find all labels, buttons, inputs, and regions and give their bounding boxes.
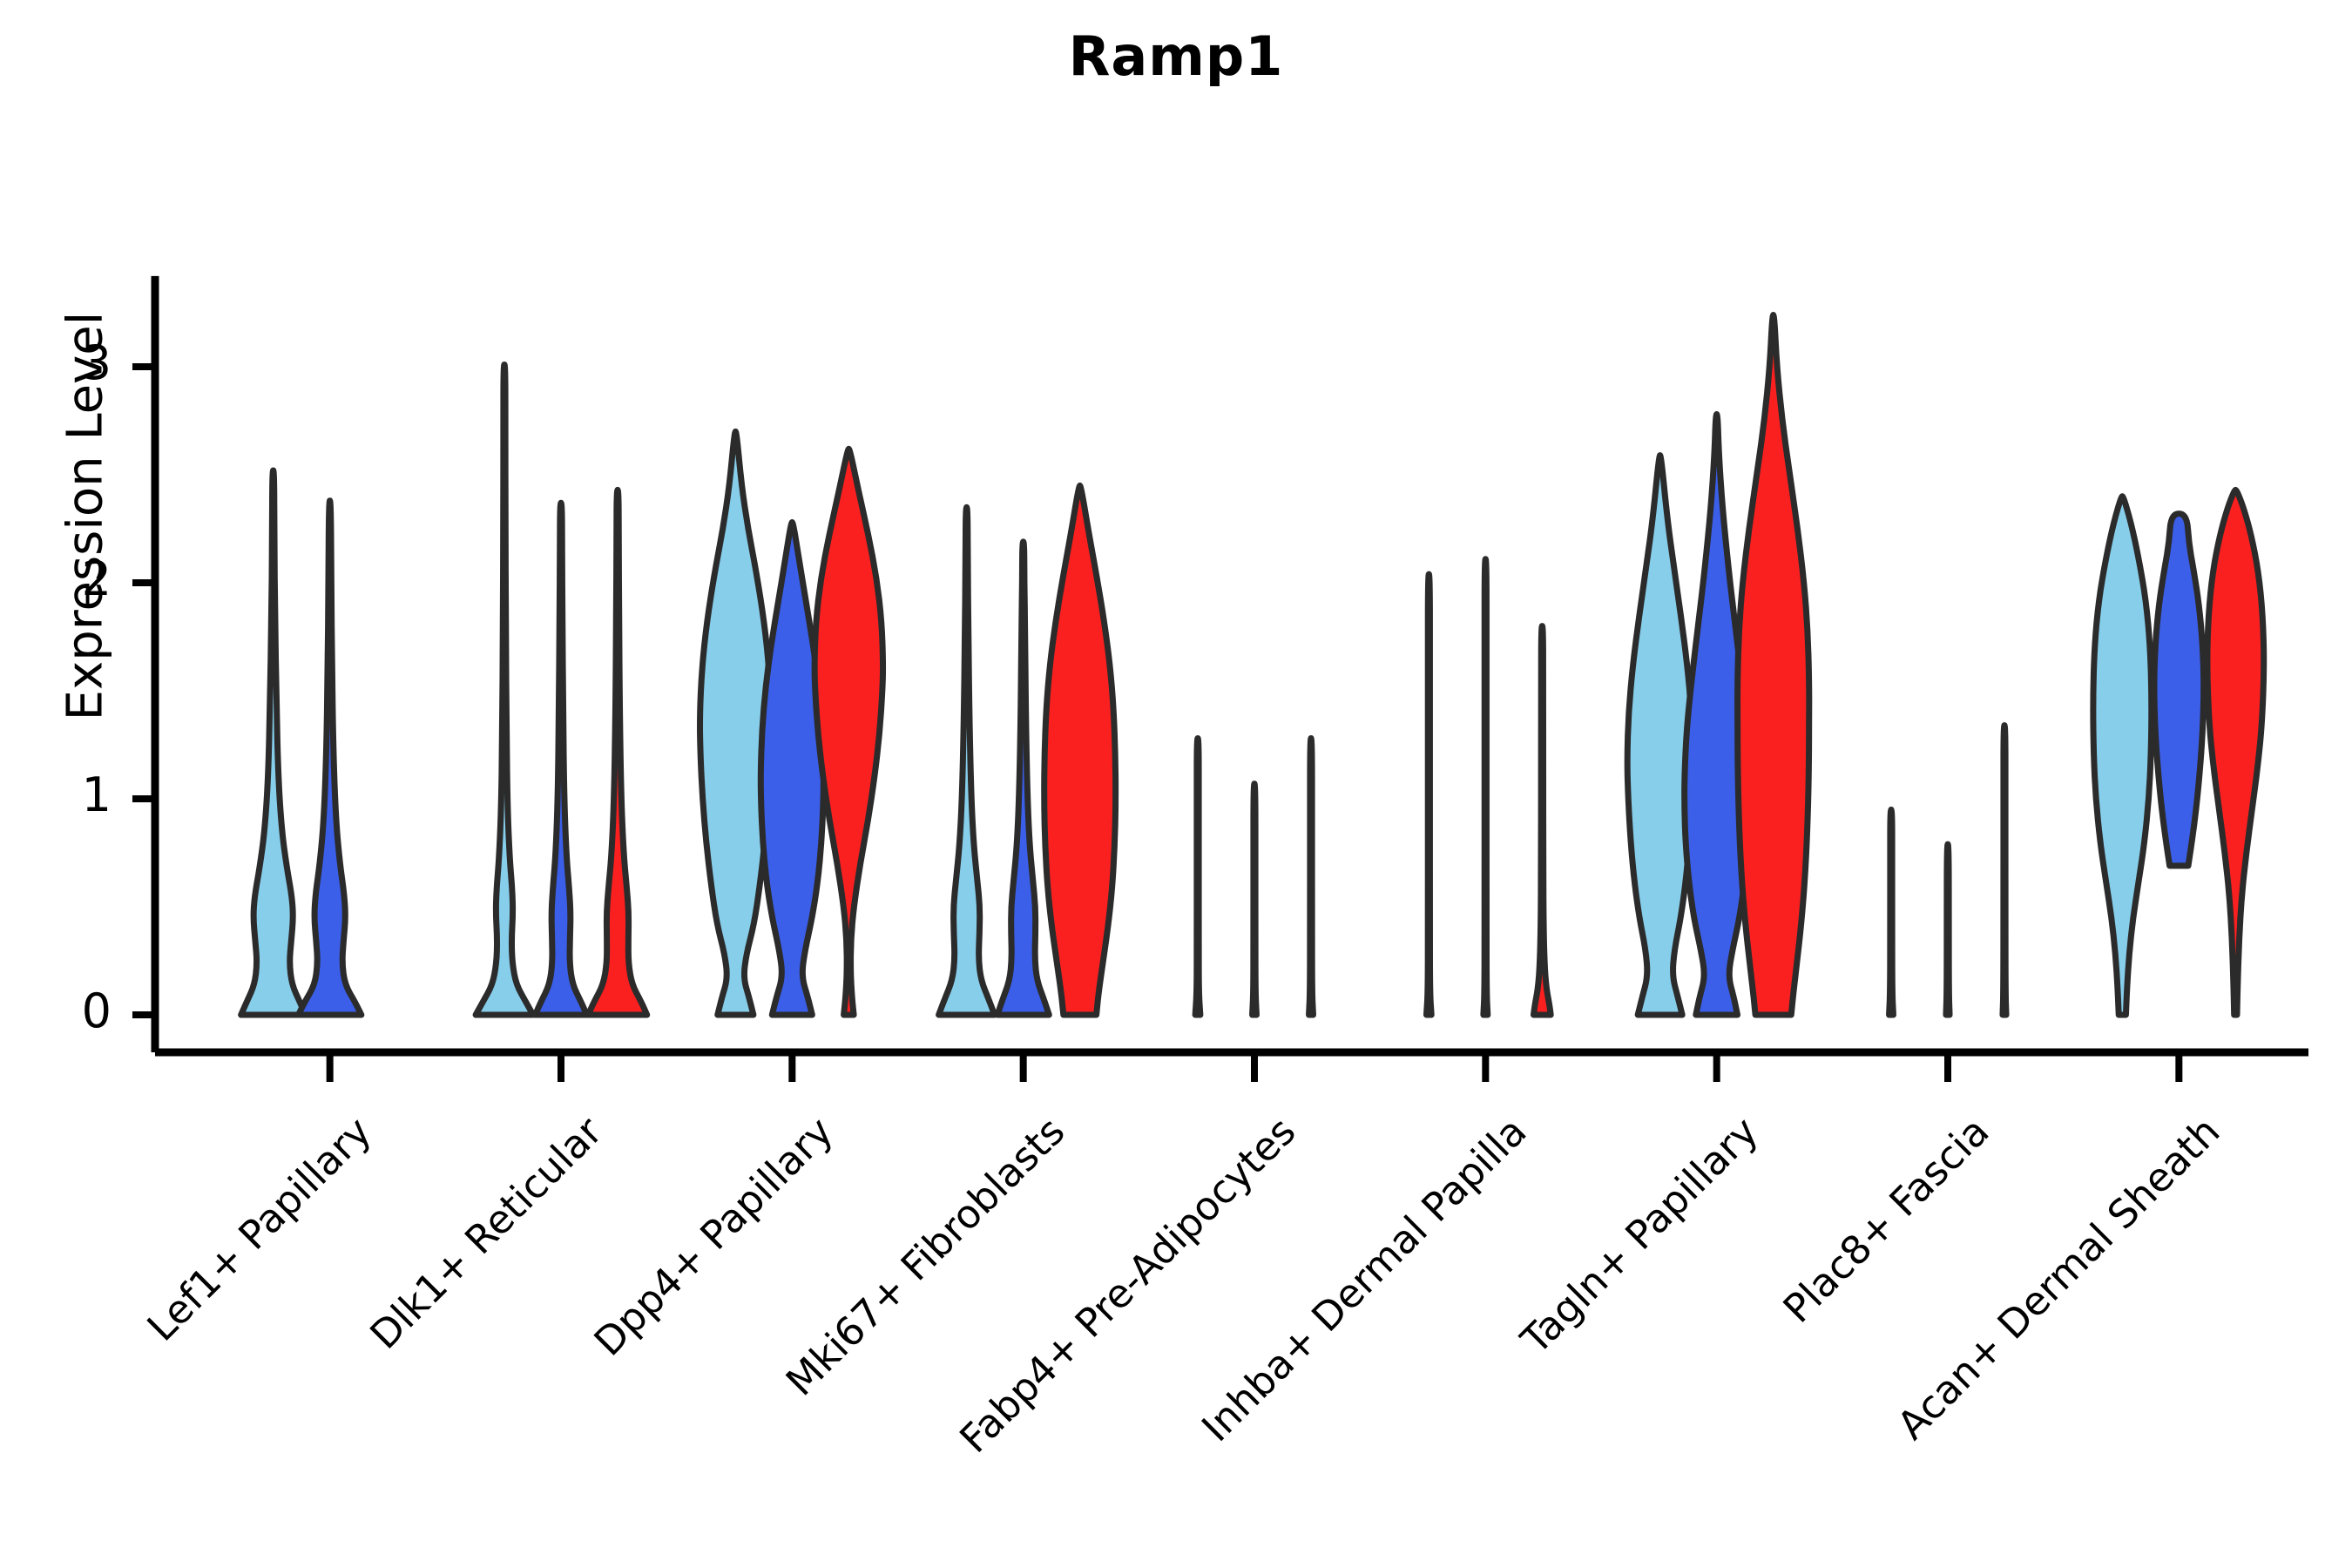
violin-4-1 <box>939 507 995 1015</box>
violin-2-2 <box>535 503 586 1015</box>
y-tick-label-1: 1 <box>16 767 112 822</box>
violin-6-3 <box>1533 626 1551 1015</box>
violin-8-3 <box>2003 726 2006 1015</box>
violin-7-3 <box>1738 314 1809 1015</box>
violin-9-3 <box>2207 490 2264 1015</box>
violin-2-1 <box>476 365 533 1015</box>
violin-2-3 <box>588 490 646 1015</box>
violin-5-1 <box>1195 739 1200 1015</box>
violin-8-2 <box>1946 844 1950 1015</box>
violin-5-3 <box>1309 739 1314 1015</box>
violin-9-2 <box>2154 514 2204 866</box>
y-tick-label-2: 2 <box>16 551 112 606</box>
violin-9-1 <box>2093 497 2152 1015</box>
violin-6-1 <box>1426 574 1431 1015</box>
violin-6-2 <box>1484 559 1488 1015</box>
violin-3-2 <box>760 523 823 1015</box>
violin-4-3 <box>1044 485 1116 1015</box>
violin-1-1 <box>241 470 306 1015</box>
violin-3-3 <box>814 449 882 1015</box>
axis-layer <box>132 276 2308 1082</box>
y-tick-label-3: 3 <box>16 335 112 390</box>
violin-8-1 <box>1889 809 1894 1015</box>
violin-5-2 <box>1253 784 1257 1015</box>
violins-layer <box>241 314 2264 1015</box>
violin-1-2 <box>298 501 361 1015</box>
violin-7-1 <box>1627 456 1693 1015</box>
y-tick-label-0: 0 <box>16 983 112 1038</box>
